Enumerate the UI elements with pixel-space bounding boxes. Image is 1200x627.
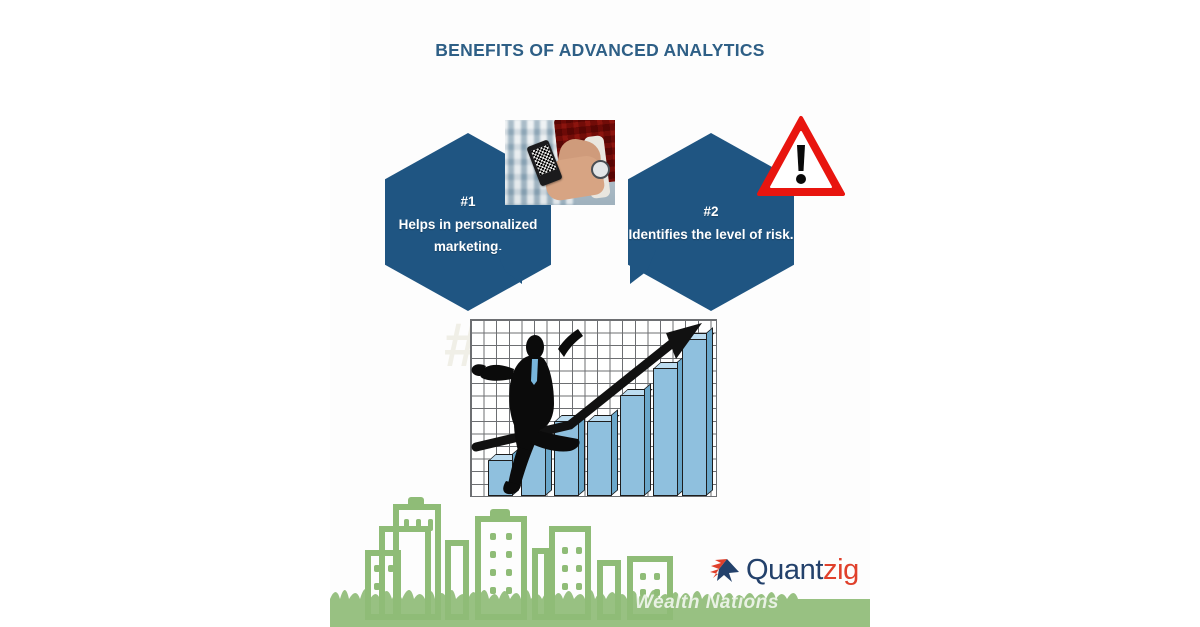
benefit-2-number: #2	[628, 201, 794, 223]
page-title: BENEFITS OF ADVANCED ANALYTICS	[330, 40, 870, 61]
warning-triangle-icon	[757, 115, 845, 197]
city-skyline-graphic	[330, 467, 870, 627]
photo-wristwatch	[591, 160, 610, 179]
quantzig-wordmark: Quantzig	[746, 556, 859, 585]
logo-text-quant: Quant	[746, 554, 823, 586]
benefit-1-text: Helps in personalized marketing.	[399, 217, 538, 254]
qr-phone-photo	[505, 120, 615, 205]
benefit-2-text: Identifies the level of risk.	[628, 227, 793, 242]
quantzig-arrow-mark	[709, 557, 743, 583]
benefit-card-2-content: #2 Identifies the level of risk.	[628, 201, 794, 246]
poster-canvas: BENEFITS OF ADVANCED ANALYTICS #1 Helps …	[330, 0, 870, 627]
quantzig-logo[interactable]: Quantzig	[709, 552, 859, 588]
poster-root: BENEFITS OF ADVANCED ANALYTICS #1 Helps …	[0, 0, 1200, 627]
logo-text-zig: zig	[823, 554, 859, 586]
bottom-watermark-text: Wealth Nations	[635, 592, 779, 614]
